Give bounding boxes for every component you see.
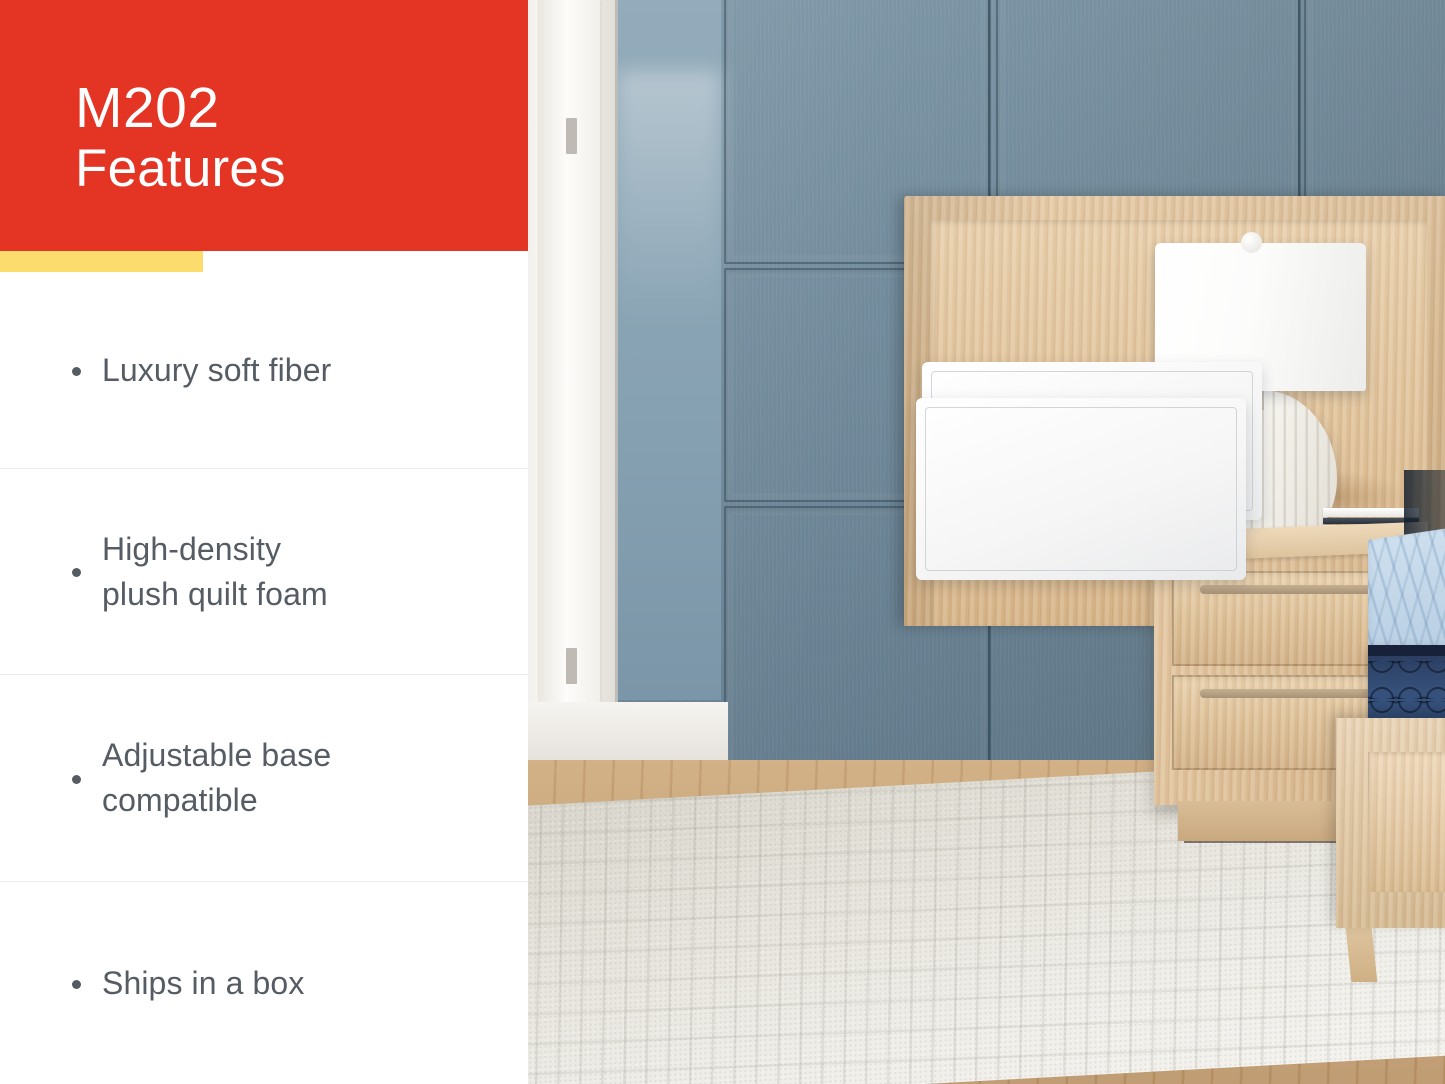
far-wall: [616, 0, 721, 700]
page-title: M202 Features: [75, 77, 505, 199]
drawer-pull: [1200, 585, 1376, 594]
feature-label: Ships in a box: [102, 961, 304, 1006]
list-item: Luxury soft fiber: [0, 272, 528, 468]
door-hinge: [566, 118, 577, 154]
lamp-finial: [1241, 232, 1262, 253]
left-content-panel: M202 Features Luxury soft fiber High-den…: [0, 0, 528, 1084]
door-slab: [538, 0, 600, 745]
yellow-accent-bar: [0, 251, 203, 272]
feature-label: Luxury soft fiber: [102, 348, 331, 393]
footboard: [1336, 718, 1445, 928]
list-item: Adjustable base compatible: [0, 674, 528, 881]
list-item: Ships in a box: [0, 881, 528, 1084]
bullet-icon: [72, 568, 81, 577]
pillow-flange: [925, 407, 1237, 571]
feature-label: High-density plush quilt foam: [102, 527, 328, 617]
baseboard: [528, 702, 728, 760]
bullet-icon: [72, 775, 81, 784]
list-item: High-density plush quilt foam: [0, 468, 528, 674]
header-block: M202 Features: [0, 0, 528, 251]
mattress-wave-pattern: [1368, 661, 1445, 699]
feature-list: Luxury soft fiber High-density plush qui…: [0, 272, 528, 1084]
door-trim: [528, 0, 618, 760]
wood-grain: [1368, 752, 1445, 892]
feature-slide: M202 Features Luxury soft fiber High-den…: [0, 0, 1445, 1084]
title-subtitle: Features: [75, 139, 505, 199]
footboard-panel: [1368, 752, 1445, 892]
pillow-sham-front: [916, 398, 1246, 580]
bullet-icon: [72, 367, 81, 376]
window-glow: [616, 70, 721, 330]
drawer-pull: [1200, 689, 1376, 698]
feature-label: Adjustable base compatible: [102, 733, 331, 823]
title-model: M202: [75, 77, 505, 139]
bedroom-product-photo: [528, 0, 1445, 1084]
door-hinge: [566, 648, 577, 684]
bullet-icon: [72, 980, 81, 989]
